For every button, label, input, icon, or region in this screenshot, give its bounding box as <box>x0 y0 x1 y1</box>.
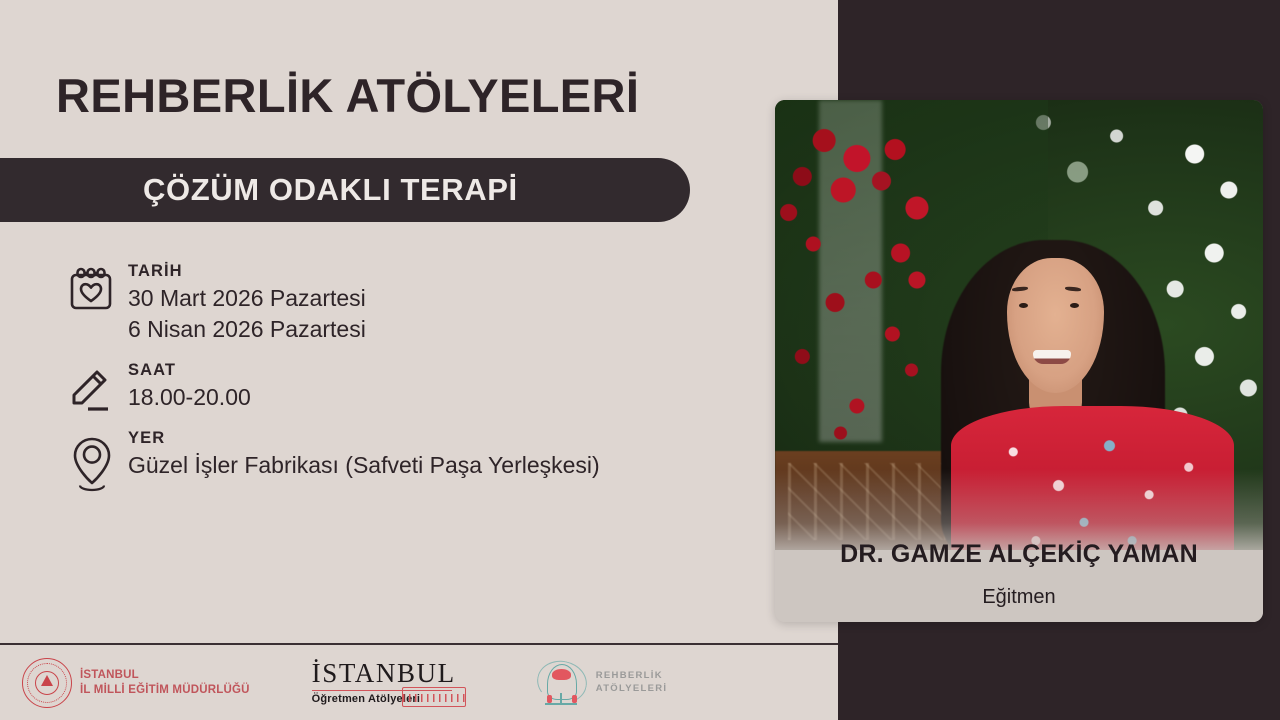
footer-logos: İSTANBUL İL MİLLİ EĞİTİM MÜDÜRLÜĞÜ İSTAN… <box>0 645 838 720</box>
base-line-icon <box>545 703 577 705</box>
istanbul-ogretmen-atolyeleri-logo: İSTANBUL Öğretmen Atölyeleri <box>312 660 456 706</box>
rehberlik-atolyeleri-logo: REHBERLİK ATÖLYELERİ <box>534 659 668 707</box>
detail-row-place: YER Güzel İşler Fabrikası (Safveti Paşa … <box>66 429 766 493</box>
detail-body-date: TARİH 30 Mart 2026 Pazartesi 6 Nisan 202… <box>128 262 366 345</box>
speaker-name-wrap: DR. GAMZE ALÇEKİÇ YAMAN <box>775 538 1263 569</box>
istanbul-logo-line1: İSTANBUL <box>312 660 456 687</box>
location-pin-icon <box>66 429 128 493</box>
detail-value-time: 18.00-20.00 <box>128 382 251 413</box>
poster-root: REHBERLİK ATÖLYELERİ ÇÖZÜM ODAKLI TERAPİ… <box>0 0 1280 720</box>
detail-body-place: YER Güzel İşler Fabrikası (Safveti Paşa … <box>128 429 600 481</box>
detail-body-time: SAAT 18.00-20.00 <box>128 361 251 413</box>
meb-seal-icon <box>22 658 72 708</box>
speaker-card: DR. GAMZE ALÇEKİÇ YAMAN Eğitmen <box>775 100 1263 622</box>
meb-logo-text: İSTANBUL İL MİLLİ EĞİTİM MÜDÜRLÜĞÜ <box>80 668 250 697</box>
detail-row-time: SAAT 18.00-20.00 <box>66 361 766 415</box>
event-details: TARİH 30 Mart 2026 Pazartesi 6 Nisan 202… <box>66 262 766 507</box>
meb-logo: İSTANBUL İL MİLLİ EĞİTİM MÜDÜRLÜĞÜ <box>22 658 250 708</box>
detail-label-time: SAAT <box>128 361 251 380</box>
book-right-icon <box>572 695 577 703</box>
meb-logo-line2: İL MİLLİ EĞİTİM MÜDÜRLÜĞÜ <box>80 683 250 697</box>
detail-value-date-2: 6 Nisan 2026 Pazartesi <box>128 314 366 345</box>
meb-logo-line1: İSTANBUL <box>80 668 250 682</box>
ruler-icon <box>402 687 466 707</box>
calendar-heart-icon <box>66 262 128 314</box>
detail-label-place: YER <box>128 429 600 448</box>
rehberlik-logo-line2: ATÖLYELERİ <box>596 683 668 695</box>
head-brain-icon <box>534 659 590 707</box>
pencil-icon <box>66 361 128 415</box>
detail-label-date: TARİH <box>128 262 366 281</box>
detail-row-date: TARİH 30 Mart 2026 Pazartesi 6 Nisan 202… <box>66 262 766 345</box>
speaker-name: DR. GAMZE ALÇEKİÇ YAMAN <box>775 540 1263 569</box>
detail-value-date-1: 30 Mart 2026 Pazartesi <box>128 283 366 314</box>
subtitle-banner: ÇÖZÜM ODAKLI TERAPİ <box>0 158 690 222</box>
speaker-caption: DR. GAMZE ALÇEKİÇ YAMAN Eğitmen <box>775 550 1263 622</box>
brain-shape-icon <box>552 669 571 680</box>
photo-bottom-fade <box>775 100 1263 550</box>
rehberlik-logo-line1: REHBERLİK <box>596 670 668 682</box>
detail-value-place: Güzel İşler Fabrikası (Safveti Paşa Yerl… <box>128 450 600 481</box>
page-title: REHBERLİK ATÖLYELERİ <box>56 72 639 121</box>
book-left-icon <box>547 695 552 703</box>
rehberlik-logo-text: REHBERLİK ATÖLYELERİ <box>596 670 668 695</box>
subtitle-text: ÇÖZÜM ODAKLI TERAPİ <box>143 172 518 208</box>
speaker-photo <box>775 100 1263 550</box>
meb-seal-inner-icon <box>35 671 59 695</box>
